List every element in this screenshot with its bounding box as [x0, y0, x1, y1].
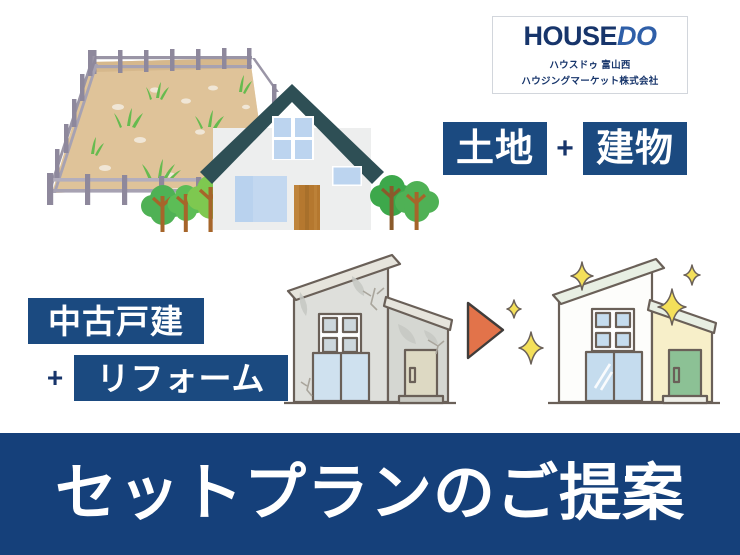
- badge-reform: リフォーム: [74, 355, 288, 401]
- bottom-banner: セットプランのご提案: [0, 433, 740, 555]
- logo-word-do: DO: [617, 21, 657, 51]
- banner-headline: セットプランのご提案: [55, 463, 685, 525]
- plus-operator-top: +: [549, 134, 581, 164]
- grass-tuft: [146, 82, 169, 100]
- transform-arrow-icon: [468, 303, 503, 358]
- renovated-house-illustration: [548, 259, 720, 403]
- trees-cluster-left-icon: [141, 175, 235, 232]
- plus-operator-bottom: +: [40, 363, 70, 393]
- old-house-illustration: [284, 255, 456, 403]
- trees-cluster-right-icon: [370, 175, 439, 230]
- new-house-illustration: [200, 84, 384, 230]
- land-ground: [52, 58, 268, 193]
- badge-land: 土地: [443, 122, 547, 175]
- logo-word-house: HOUSE: [523, 21, 617, 51]
- vacant-land-illustration: [47, 48, 279, 205]
- promo-flyer-canvas: HOUSEDO ハウスドゥ 富山西 ハウジングマーケット株式会社 土地 + 建物…: [0, 0, 740, 555]
- fence-post: [92, 48, 252, 74]
- badge-used-house: 中古戸建: [28, 298, 204, 344]
- sparkle-icon: [507, 262, 700, 364]
- logo-subtitle-company: ハウジングマーケット株式会社: [521, 73, 658, 87]
- house-do-logo: HOUSEDO ハウスドゥ 富山西 ハウジングマーケット株式会社: [492, 16, 688, 94]
- logo-subtitle-branch: ハウスドゥ 富山西: [549, 57, 630, 71]
- badge-building: 建物: [583, 122, 687, 175]
